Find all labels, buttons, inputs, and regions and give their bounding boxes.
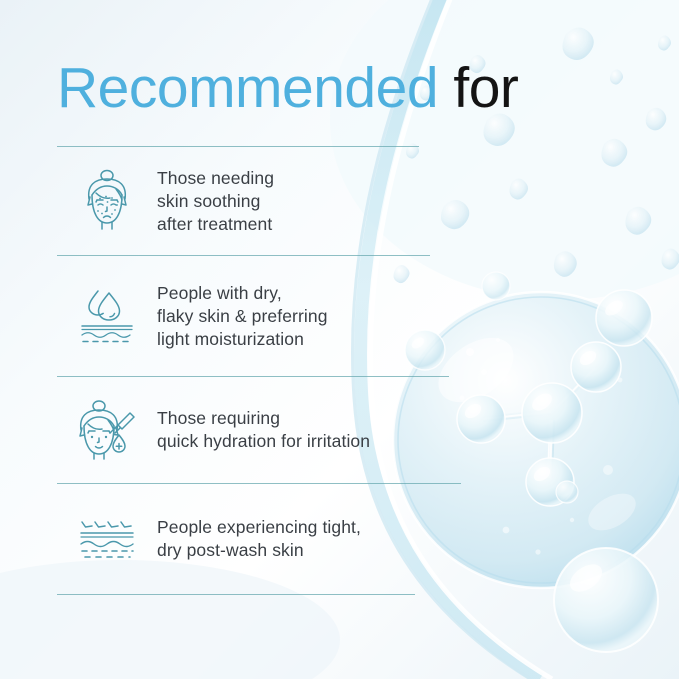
list-item: Those needing skin soothing after treatm… [57, 147, 427, 255]
face-with-spots-icon [57, 169, 157, 233]
list-divider-bottom [57, 594, 415, 595]
small-bubbles [405, 272, 658, 652]
list-item: People with dry, flaky skin & preferring… [57, 256, 427, 376]
list-divider [57, 376, 449, 377]
page-title: Recommended for [57, 60, 518, 117]
title-highlight-word: Recommended [57, 56, 438, 120]
flaky-dry-skin-lines-icon [57, 516, 157, 562]
list-item: Those requiring quick hydration for irri… [57, 377, 427, 483]
recommended-for-list: Those needing skin soothing after treatm… [57, 146, 427, 595]
list-item-label: People with dry, flaky skin & preferring… [157, 282, 328, 351]
list-divider [57, 483, 461, 484]
water-drops-over-skin-layers-icon [57, 285, 157, 347]
title-plain-word: for [453, 56, 518, 120]
list-divider-top [57, 146, 419, 147]
list-divider [57, 255, 430, 256]
molecule-structure-four-spheres [457, 342, 621, 506]
large-translucent-bubble [393, 292, 679, 588]
poster-canvas: Recommended for [0, 0, 679, 679]
list-item-label: Those needing skin soothing after treatm… [157, 167, 274, 236]
list-item: People experiencing tight, dry post-wash… [57, 484, 427, 594]
face-with-dropper-icon [57, 399, 157, 461]
list-item-label: Those requiring quick hydration for irri… [157, 407, 370, 453]
list-item-label: People experiencing tight, dry post-wash… [157, 516, 361, 562]
